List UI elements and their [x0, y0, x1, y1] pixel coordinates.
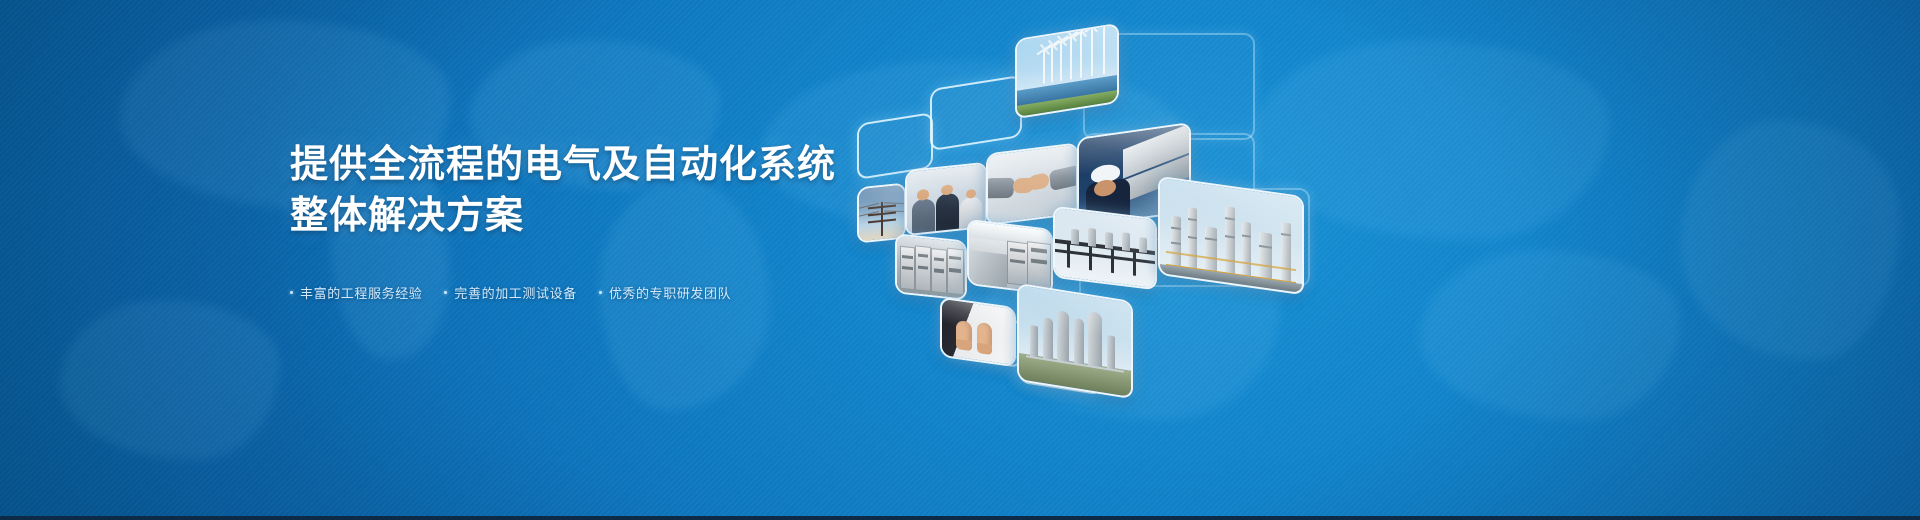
tile-switchgear-room[interactable]	[967, 219, 1053, 296]
bullet-dot-icon	[599, 291, 602, 294]
bullet-dot-icon	[290, 291, 293, 294]
power-pylon-scene	[859, 185, 904, 242]
tile-wind-farm[interactable]	[1015, 23, 1119, 119]
control-cabinets-scene	[897, 235, 965, 298]
tile-thumbs-up[interactable]	[940, 297, 1016, 368]
gas-plant-scene	[1019, 285, 1131, 397]
feature-bullet-3: 优秀的专职研发团队	[599, 283, 731, 302]
wind-farm-scene	[1017, 25, 1117, 117]
thumbs-up-scene	[942, 299, 1014, 365]
tile-pipe-rack[interactable]	[1053, 206, 1157, 291]
feature-bullet-1-label: 丰富的工程服务经验	[300, 283, 422, 302]
refinery-scene	[1160, 178, 1302, 293]
tile-gas-plant[interactable]	[1017, 283, 1133, 399]
tile-power-pylon[interactable]	[857, 182, 906, 243]
pipe-rack-scene	[1055, 208, 1155, 288]
bullet-dot-icon	[444, 291, 447, 294]
feature-bullet-3-label: 优秀的专职研发团队	[609, 283, 731, 302]
switchgear-room-scene	[969, 221, 1051, 293]
tile-control-cabinets[interactable]	[895, 233, 967, 301]
feature-bullet-1: 丰富的工程服务经验	[290, 283, 422, 302]
image-collage	[840, 0, 1920, 520]
feature-bullet-2: 完善的加工测试设备	[444, 283, 576, 302]
hero-banner: 提供全流程的电气及自动化系统 整体解决方案 丰富的工程服务经验 完善的加工测试设…	[0, 0, 1920, 520]
bottom-accent-bar	[0, 516, 1920, 520]
tile-placeholder-2[interactable]	[930, 75, 1022, 152]
feature-bullet-2-label: 完善的加工测试设备	[454, 283, 576, 302]
tile-refinery[interactable]	[1158, 176, 1304, 296]
